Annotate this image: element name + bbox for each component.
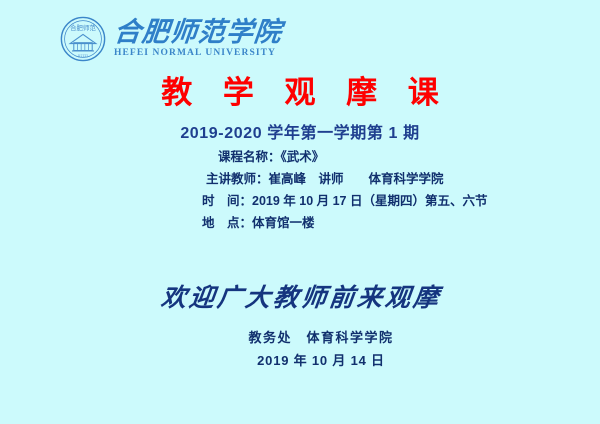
university-wordmark: 合肥师范学院 HEFEI NORMAL UNIVERSITY [114,19,282,59]
detail-lecturer: 主讲教师：崔高峰 讲师 体育科学学院 [206,168,487,190]
signature-date: 2019 年 10 月 14 日 [0,349,600,372]
signature-block: 教务处 体育科学学院 2019 年 10 月 14 日 [0,326,600,372]
signature-department: 教务处 体育科学学院 [0,326,600,349]
page-title: 教 学 观 摩 课 [0,76,600,110]
svg-text:HEFEI: HEFEI [78,54,89,58]
detail-location: 地 点：体育馆一楼 [202,212,487,234]
university-name-cn: 合肥师范学院 [113,19,284,46]
masthead: 合肥师范 HEFEI 合肥师范学院 HEFEI NORMAL UNIVERSIT… [60,16,282,62]
event-details: 课程名称：《武术》 主讲教师：崔高峰 讲师 体育科学学院 时 间：2019 年 … [218,146,487,234]
detail-course-name: 课程名称：《武术》 [218,146,487,168]
poster-canvas: 合肥师范 HEFEI 合肥师范学院 HEFEI NORMAL UNIVERSIT… [0,0,600,424]
university-seal-icon: 合肥师范 HEFEI [60,16,106,62]
issue-subtitle: 2019-2020 学年第一学期第 1 期 [0,119,600,143]
welcome-message: 欢迎广大教师前来观摩 [0,278,600,314]
university-name-en: HEFEI NORMAL UNIVERSITY [114,49,282,59]
detail-time: 时 间：2019 年 10 月 17 日（星期四）第五、六节 [202,190,487,212]
svg-text:合肥师范: 合肥师范 [70,23,96,32]
